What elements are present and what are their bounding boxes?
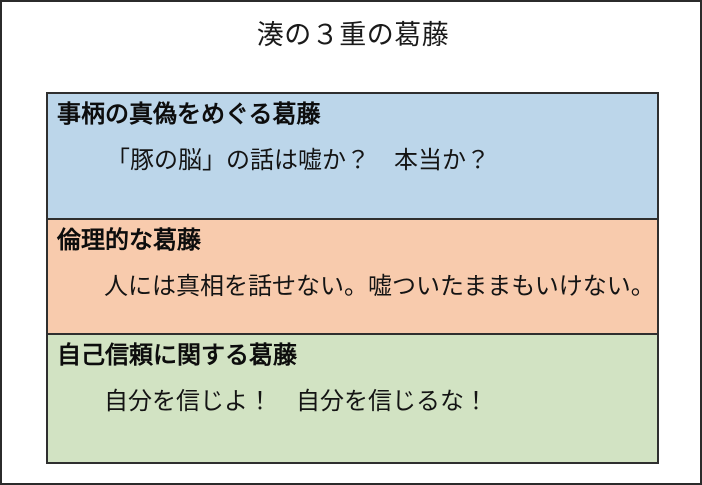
conflict-band-ethics-heading: 倫理的な葛藤 <box>48 220 657 256</box>
conflict-band-self-trust-heading: 自己信頼に関する葛藤 <box>48 335 657 371</box>
slide-canvas: 湊の３重の葛藤 事柄の真偽をめぐる葛藤 「豚の脳」の話は嘘か？ 本当か？ 倫理的… <box>0 0 702 485</box>
conflict-band-self-trust: 自己信頼に関する葛藤 自分を信じよ！ 自分を信じるな！ <box>48 335 657 462</box>
conflict-band-truth-heading: 事柄の真偽をめぐる葛藤 <box>48 94 657 130</box>
conflict-band-truth: 事柄の真偽をめぐる葛藤 「豚の脳」の話は嘘か？ 本当か？ <box>48 94 657 220</box>
conflict-band-ethics: 倫理的な葛藤 人には真相を話せない。嘘ついたままもいけない。 <box>48 220 657 335</box>
page-title: 湊の３重の葛藤 <box>2 19 702 51</box>
conflict-band-self-trust-body: 自分を信じよ！ 自分を信じるな！ <box>48 371 657 417</box>
conflict-layers-diagram: 事柄の真偽をめぐる葛藤 「豚の脳」の話は嘘か？ 本当か？ 倫理的な葛藤 人には真… <box>46 92 659 464</box>
conflict-band-truth-body: 「豚の脳」の話は嘘か？ 本当か？ <box>48 130 657 176</box>
conflict-band-ethics-body: 人には真相を話せない。嘘ついたままもいけない。 <box>48 256 657 302</box>
